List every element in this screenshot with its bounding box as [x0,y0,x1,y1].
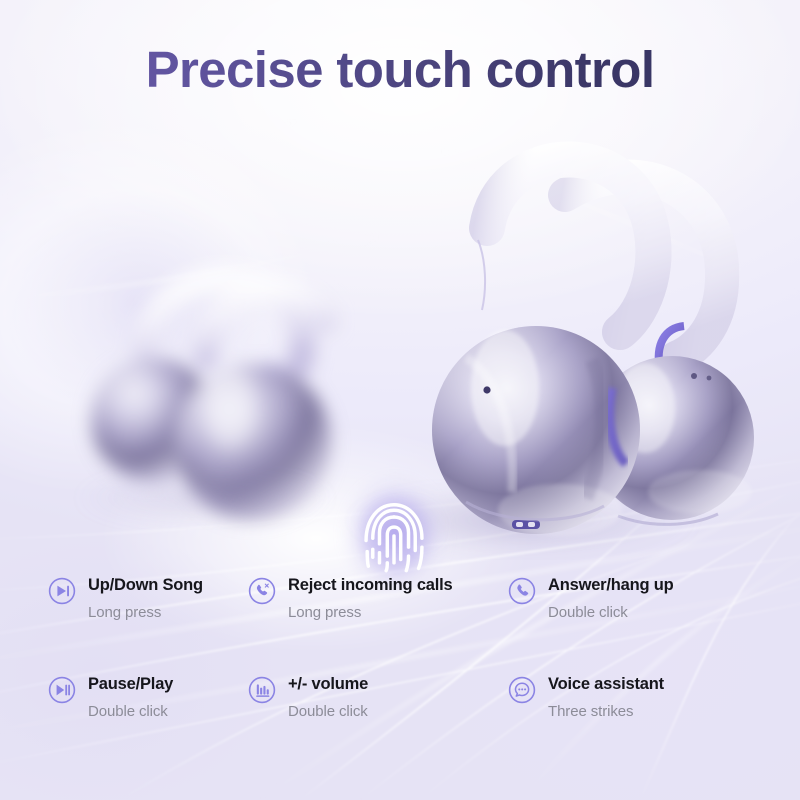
feature-action: Double click [288,704,368,721]
feature-action: Double click [88,704,173,721]
earbud-front [432,159,653,536]
product-photo [0,120,800,560]
feature-text: Reject incoming calls Long press [288,576,453,622]
feature-text: Pause/Play Double click [88,675,173,721]
feature-item-up-down-song[interactable]: Up/Down Song Long press [0,576,248,622]
feature-item-pause-play[interactable]: Pause/Play Double click [0,675,248,721]
feature-item-reject-incoming-calls[interactable]: Reject incoming calls Long press [248,576,504,622]
feature-action: Long press [288,605,453,622]
feature-label: Pause/Play [88,675,173,693]
feature-item-answer-hang-up[interactable]: Answer/hang up Double click [504,576,800,622]
feature-label: Answer/hang up [548,576,674,594]
reject-call-icon [248,577,276,605]
promo-image: Precise touch control [0,0,800,800]
feature-action: Double click [548,605,674,622]
feature-item-voice-assistant[interactable]: Voice assistant Three strikes [504,675,800,721]
phone-call-icon [508,577,536,605]
feature-text: +/- volume Double click [288,675,368,721]
feature-text: Up/Down Song Long press [88,576,203,622]
feature-row: Up/Down Song Long press Reject incoming … [0,576,800,622]
feature-action: Long press [88,605,203,622]
feature-row: Pause/Play Double click +/- volum [0,675,800,721]
skip-track-icon [48,577,76,605]
feature-text: Voice assistant Three strikes [548,675,664,721]
feature-label: Up/Down Song [88,576,203,594]
fingerprint-icon [358,498,430,574]
feature-action: Three strikes [548,704,664,721]
feature-label: Reject incoming calls [288,576,453,594]
voice-assistant-icon [508,676,536,704]
volume-bars-icon [248,676,276,704]
play-pause-icon [48,676,76,704]
feature-label: +/- volume [288,675,368,693]
feature-label: Voice assistant [548,675,664,693]
feature-text: Answer/hang up Double click [548,576,674,622]
feature-list: Up/Down Song Long press Reject incoming … [0,576,800,720]
feature-item-volume[interactable]: +/- volume Double click [248,675,504,721]
page-title: Precise touch control [0,40,800,100]
